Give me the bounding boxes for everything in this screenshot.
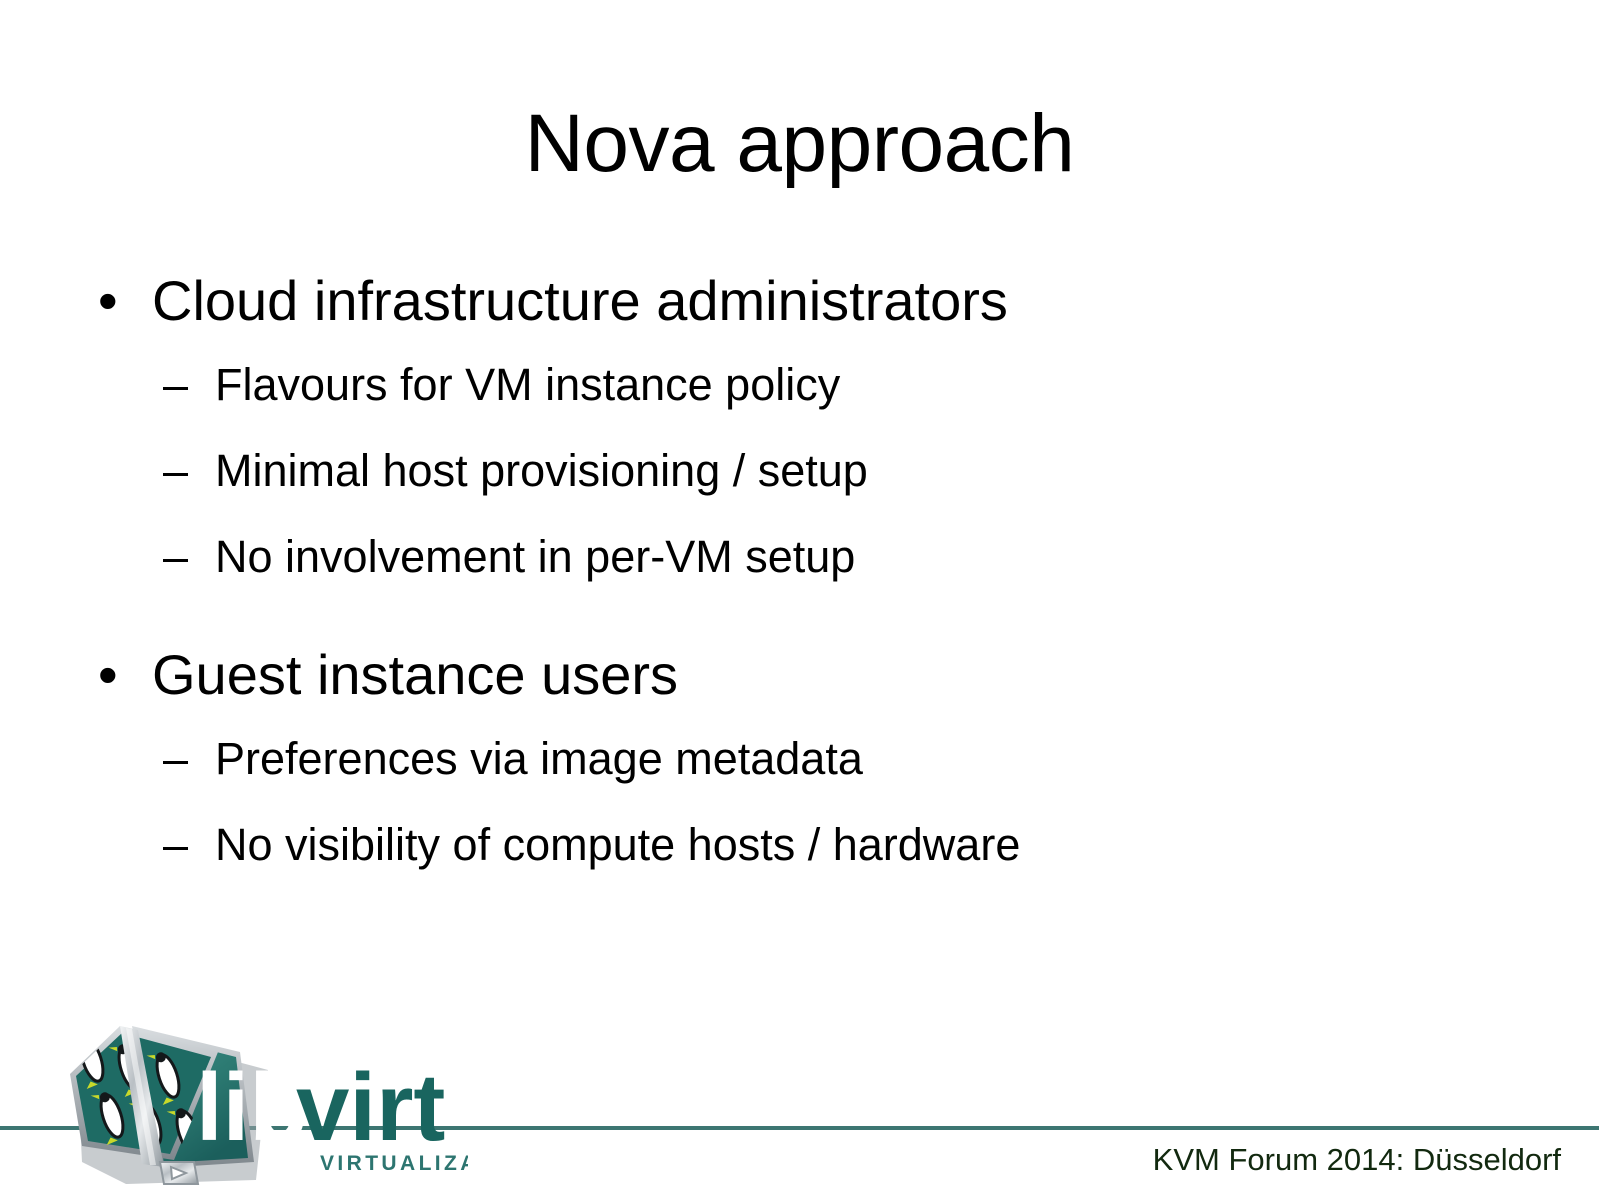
dash-icon: – bbox=[163, 444, 197, 498]
outline-group-spacer bbox=[0, 616, 1599, 642]
list-item: – Flavours for VM instance policy bbox=[0, 358, 1599, 412]
logo-wordmark-virt: virt bbox=[296, 1054, 445, 1161]
bullet-dot-icon: • bbox=[98, 268, 122, 334]
dash-icon: – bbox=[163, 358, 197, 412]
list-item: – Minimal host provisioning / setup bbox=[0, 444, 1599, 498]
libvirt-logo: lib virt VIRTUALIZATION API bbox=[68, 1012, 468, 1190]
outline-body: • Cloud infrastructure administrators – … bbox=[0, 268, 1599, 904]
page-title: Nova approach bbox=[0, 96, 1599, 192]
footer-event-label: KVM Forum 2014: Düsseldorf bbox=[1153, 1140, 1561, 1180]
dash-icon: – bbox=[163, 530, 197, 584]
dash-icon: – bbox=[163, 818, 197, 872]
bullet-dot-icon: • bbox=[98, 642, 122, 708]
clasp-icon bbox=[160, 1162, 198, 1184]
list-item: – Preferences via image metadata bbox=[0, 732, 1599, 786]
list-item-label: Guest instance users bbox=[152, 643, 678, 706]
dash-icon: – bbox=[163, 732, 197, 786]
list-item: – No visibility of compute hosts / hardw… bbox=[0, 818, 1599, 872]
list-item-label: Cloud infrastructure administrators bbox=[152, 269, 1008, 332]
list-item-label: Minimal host provisioning / setup bbox=[215, 445, 868, 496]
logo-wordmark-lib: lib bbox=[196, 1054, 308, 1161]
list-item-label: No involvement in per-VM setup bbox=[215, 531, 855, 582]
slide: Nova approach • Cloud infrastructure adm… bbox=[0, 0, 1599, 1199]
list-item: • Cloud infrastructure administrators bbox=[0, 268, 1599, 334]
list-item: – No involvement in per-VM setup bbox=[0, 530, 1599, 584]
list-item-label: No visibility of compute hosts / hardwar… bbox=[215, 819, 1020, 870]
list-item: • Guest instance users bbox=[0, 642, 1599, 708]
logo-tagline: VIRTUALIZATION API bbox=[320, 1152, 468, 1175]
list-item-label: Preferences via image metadata bbox=[215, 733, 863, 784]
list-item-label: Flavours for VM instance policy bbox=[215, 359, 840, 410]
